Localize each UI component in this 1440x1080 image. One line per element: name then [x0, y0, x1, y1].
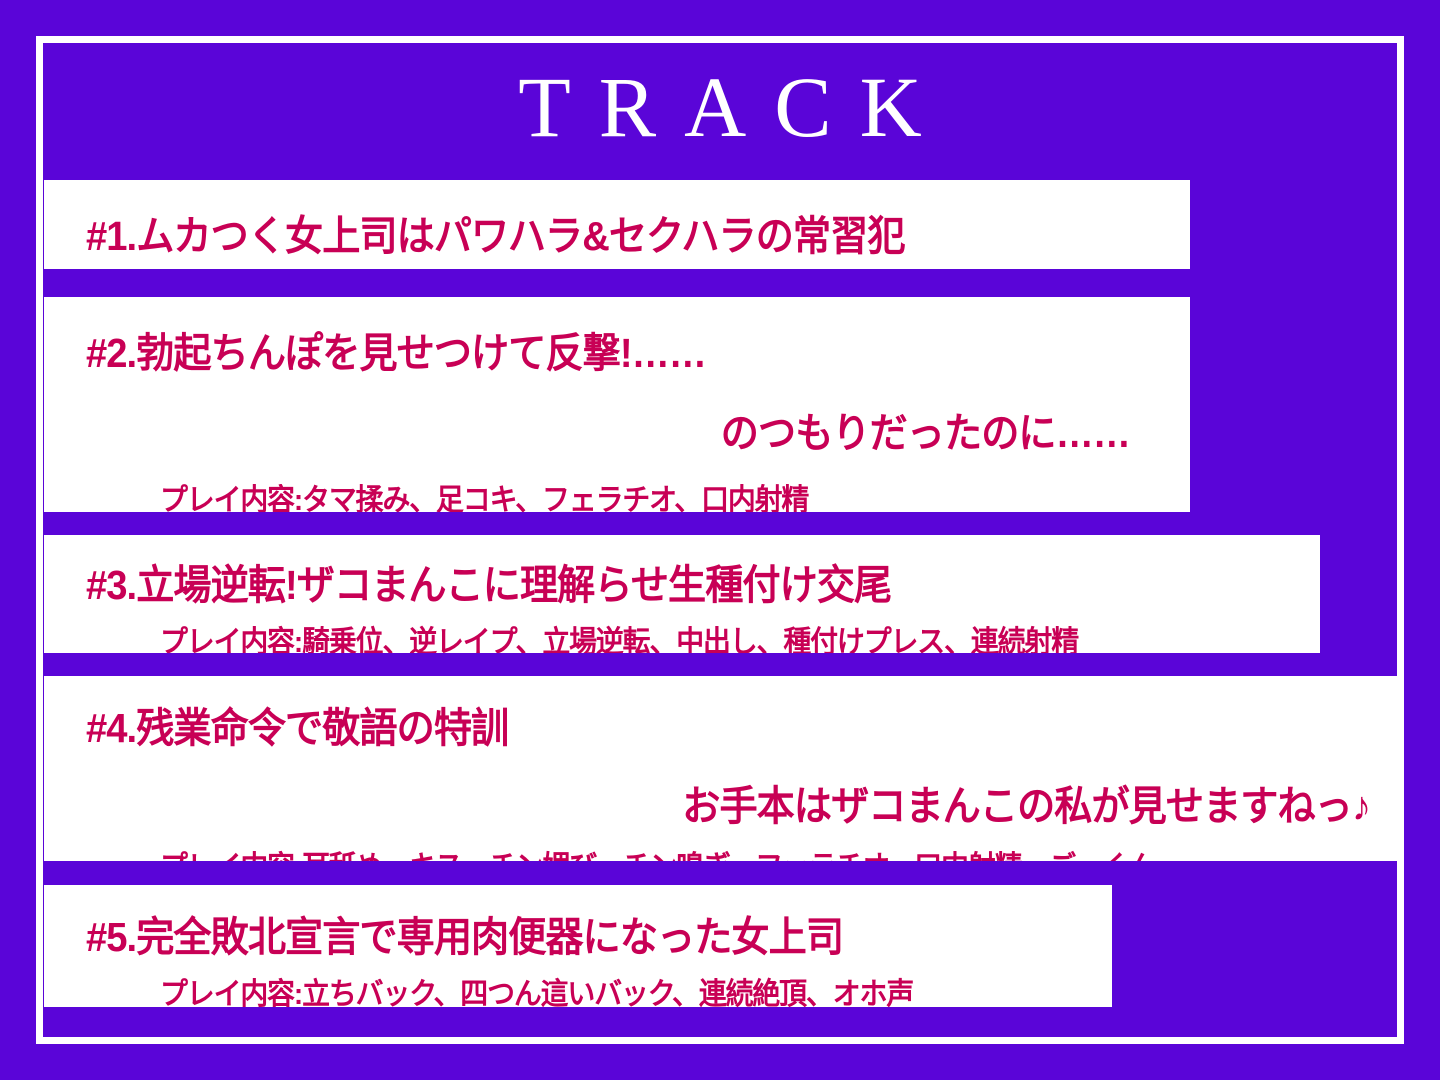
track-2-heading: #2.勃起ちんぽを見せつけて反撃!…… [86, 319, 1113, 379]
poster-title-area: TRACK [43, 43, 1397, 171]
page-title: TRACK [490, 64, 949, 150]
track-item-5: #5.完全敗北宣言で専用肉便器になった女上司 プレイ内容:立ちバック、四つん這い… [44, 885, 1112, 1007]
track-2-play-content: プレイ内容:タマ揉み、足コキ、フェラチオ、口内射精 [160, 475, 1118, 512]
track-item-4: #4.残業命令で敬語の特訓 お手本はザコまんこの私が見せますねっ♪ プレイ内容:… [44, 676, 1404, 861]
track-item-1: #1.ムカつく女上司はパワハラ&セクハラの常習犯 [44, 180, 1190, 269]
track-4-heading: #4.残業命令で敬語の特訓 [86, 694, 1312, 754]
track-2-subheading: のつもりだったのに…… [120, 399, 1130, 459]
track-5-heading: #5.完全敗北宣言で専用肉便器になった女上司 [86, 903, 1040, 963]
track-4-play-content: プレイ内容:耳舐め、キス、チン媚び、チン嗅ぎ、フェラチオ、口内射精、ごっくん [160, 842, 1317, 861]
track-5-play-content: プレイ内容:立ちバック、四つん這いバック、連続絶頂、オホ声 [160, 969, 1045, 1007]
track-item-2: #2.勃起ちんぽを見せつけて反撃!…… のつもりだったのに…… プレイ内容:タマ… [44, 297, 1190, 512]
track-item-3: #3.立場逆転!ザコまんこに理解らせ生種付け交尾 プレイ内容:騎乗位、逆レイプ、… [44, 535, 1320, 653]
track-list-poster: TRACK #1.ムカつく女上司はパワハラ&セクハラの常習犯 #2.勃起ちんぽを… [0, 0, 1440, 1080]
track-4-subheading: お手本はザコまんこの私が見せますねっ♪ [137, 772, 1370, 832]
track-3-heading: #3.立場逆転!ザコまんこに理解らせ生種付け交尾 [86, 551, 1234, 611]
track-1-heading: #1.ムカつく女上司はパワハラ&セクハラの常習犯 [86, 202, 1113, 262]
track-3-play-content: プレイ内容:騎乗位、逆レイプ、立場逆転、中出し、種付けプレス、連続射精 [160, 617, 1239, 653]
